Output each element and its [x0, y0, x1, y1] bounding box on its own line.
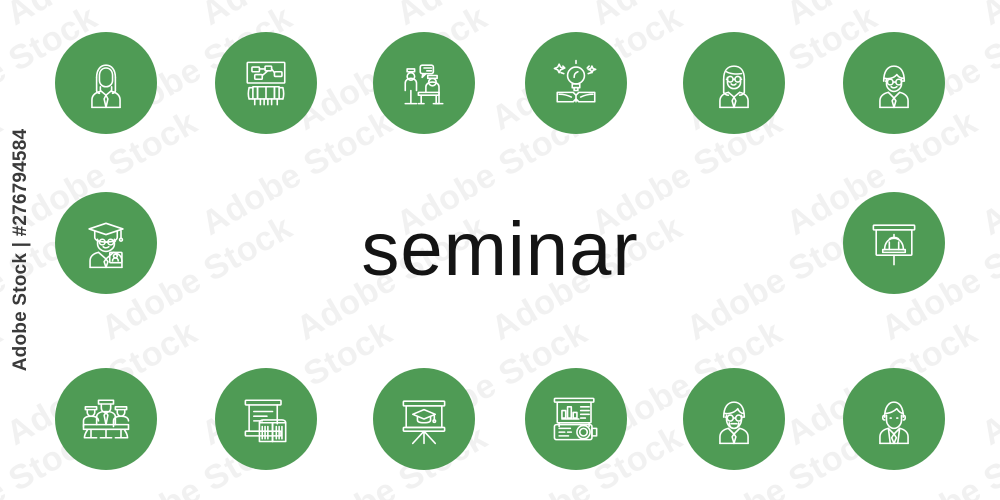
seminar-icon-poster: Adobe StockAdobe StockAdobe StockAdobe S… — [0, 0, 1000, 500]
icon-badge-graduate-cap-badge[interactable] — [55, 192, 157, 294]
icon-badge-projector-bar-chart[interactable] — [525, 368, 627, 470]
man-glasses-beard-icon — [704, 389, 764, 449]
businessman-suit-icon — [864, 389, 924, 449]
icon-badge-meeting-three-people-table[interactable] — [55, 368, 157, 470]
icon-badge-businessman-suit[interactable] — [843, 368, 945, 470]
icon-badge-whiteboard-open-book[interactable] — [215, 368, 317, 470]
presentation-board-helmet-icon — [864, 213, 924, 273]
projector-bar-chart-icon — [546, 389, 606, 449]
icon-badge-interview-desk-speech[interactable] — [373, 32, 475, 134]
icon-badge-book-lightbulb-idea[interactable] — [525, 32, 627, 134]
side-credit: Adobe Stock | #276794584 — [0, 0, 44, 500]
interview-desk-speech-icon — [394, 53, 454, 113]
woman-glasses-teacher-icon — [704, 53, 764, 113]
icon-badge-businesswoman-long-hair[interactable] — [55, 32, 157, 134]
icon-badge-man-glasses-beard[interactable] — [683, 368, 785, 470]
businesswoman-long-hair-icon — [76, 53, 136, 113]
whiteboard-open-book-icon — [236, 389, 296, 449]
icon-badge-presentation-board-graduation-cap[interactable] — [373, 368, 475, 470]
icon-grid — [0, 0, 1000, 500]
icon-badge-conference-room-table[interactable] — [215, 32, 317, 134]
icon-badge-woman-glasses-teacher[interactable] — [683, 32, 785, 134]
presentation-board-graduation-cap-icon — [394, 389, 454, 449]
book-lightbulb-idea-icon — [546, 53, 606, 113]
man-glasses-professor-icon — [864, 53, 924, 113]
icon-badge-presentation-board-helmet[interactable] — [843, 192, 945, 294]
icon-badge-man-glasses-professor[interactable] — [843, 32, 945, 134]
graduate-cap-badge-icon — [76, 213, 136, 273]
conference-room-table-icon — [236, 53, 296, 113]
side-credit-text: Adobe Stock | #276794584 — [10, 129, 32, 371]
meeting-three-people-table-icon — [76, 389, 136, 449]
